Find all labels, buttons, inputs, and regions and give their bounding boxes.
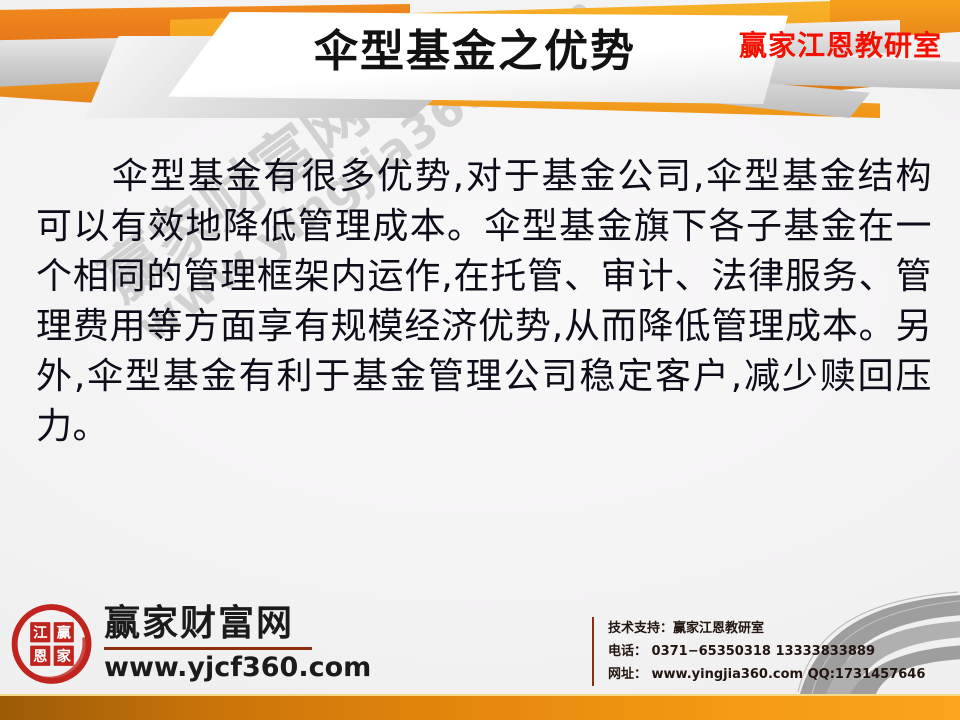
- bottom-orange-bar: [0, 696, 960, 720]
- slide-canvas: 赢家财富网 www.yingjia360.com 伞型基金之优势 赢家江恩教研室…: [0, 0, 960, 720]
- contact-web[interactable]: 网址： www.yingjia360.com QQ:1731457646: [608, 663, 925, 686]
- body-paragraph: 伞型基金有很多优势,对于基金公司,伞型基金结构可以有效地降低管理成本。伞型基金旗…: [36, 152, 932, 452]
- logo-text-group: 赢家财富网 www.yjcf360.com: [104, 604, 371, 684]
- logo-brand-cn: 赢家财富网: [104, 604, 371, 644]
- site-logo[interactable]: 江 赢 恩 家 赢家财富网 www.yjcf360.com: [10, 602, 371, 686]
- seal-char-jiang: 江: [33, 623, 47, 641]
- contact-info: 技术支持：赢家江恩教研室 电话： 0371−65350318 133338338…: [592, 617, 925, 686]
- seal-char-ying: 赢: [57, 623, 72, 641]
- contact-phone: 电话： 0371−65350318 13333833889: [608, 640, 925, 663]
- contact-support: 技术支持：赢家江恩教研室: [608, 617, 925, 640]
- seal-logo-icon: 江 赢 恩 家: [10, 602, 94, 686]
- seal-char-en: 恩: [33, 648, 47, 665]
- logo-url[interactable]: www.yjcf360.com: [104, 652, 371, 684]
- header-banner: 伞型基金之优势 赢家江恩教研室: [0, 0, 960, 118]
- logo-divider: [104, 647, 312, 650]
- seal-char-jia: 家: [57, 647, 72, 665]
- page-title: 伞型基金之优势: [240, 24, 710, 80]
- brand-label: 赢家江恩教研室: [739, 24, 942, 64]
